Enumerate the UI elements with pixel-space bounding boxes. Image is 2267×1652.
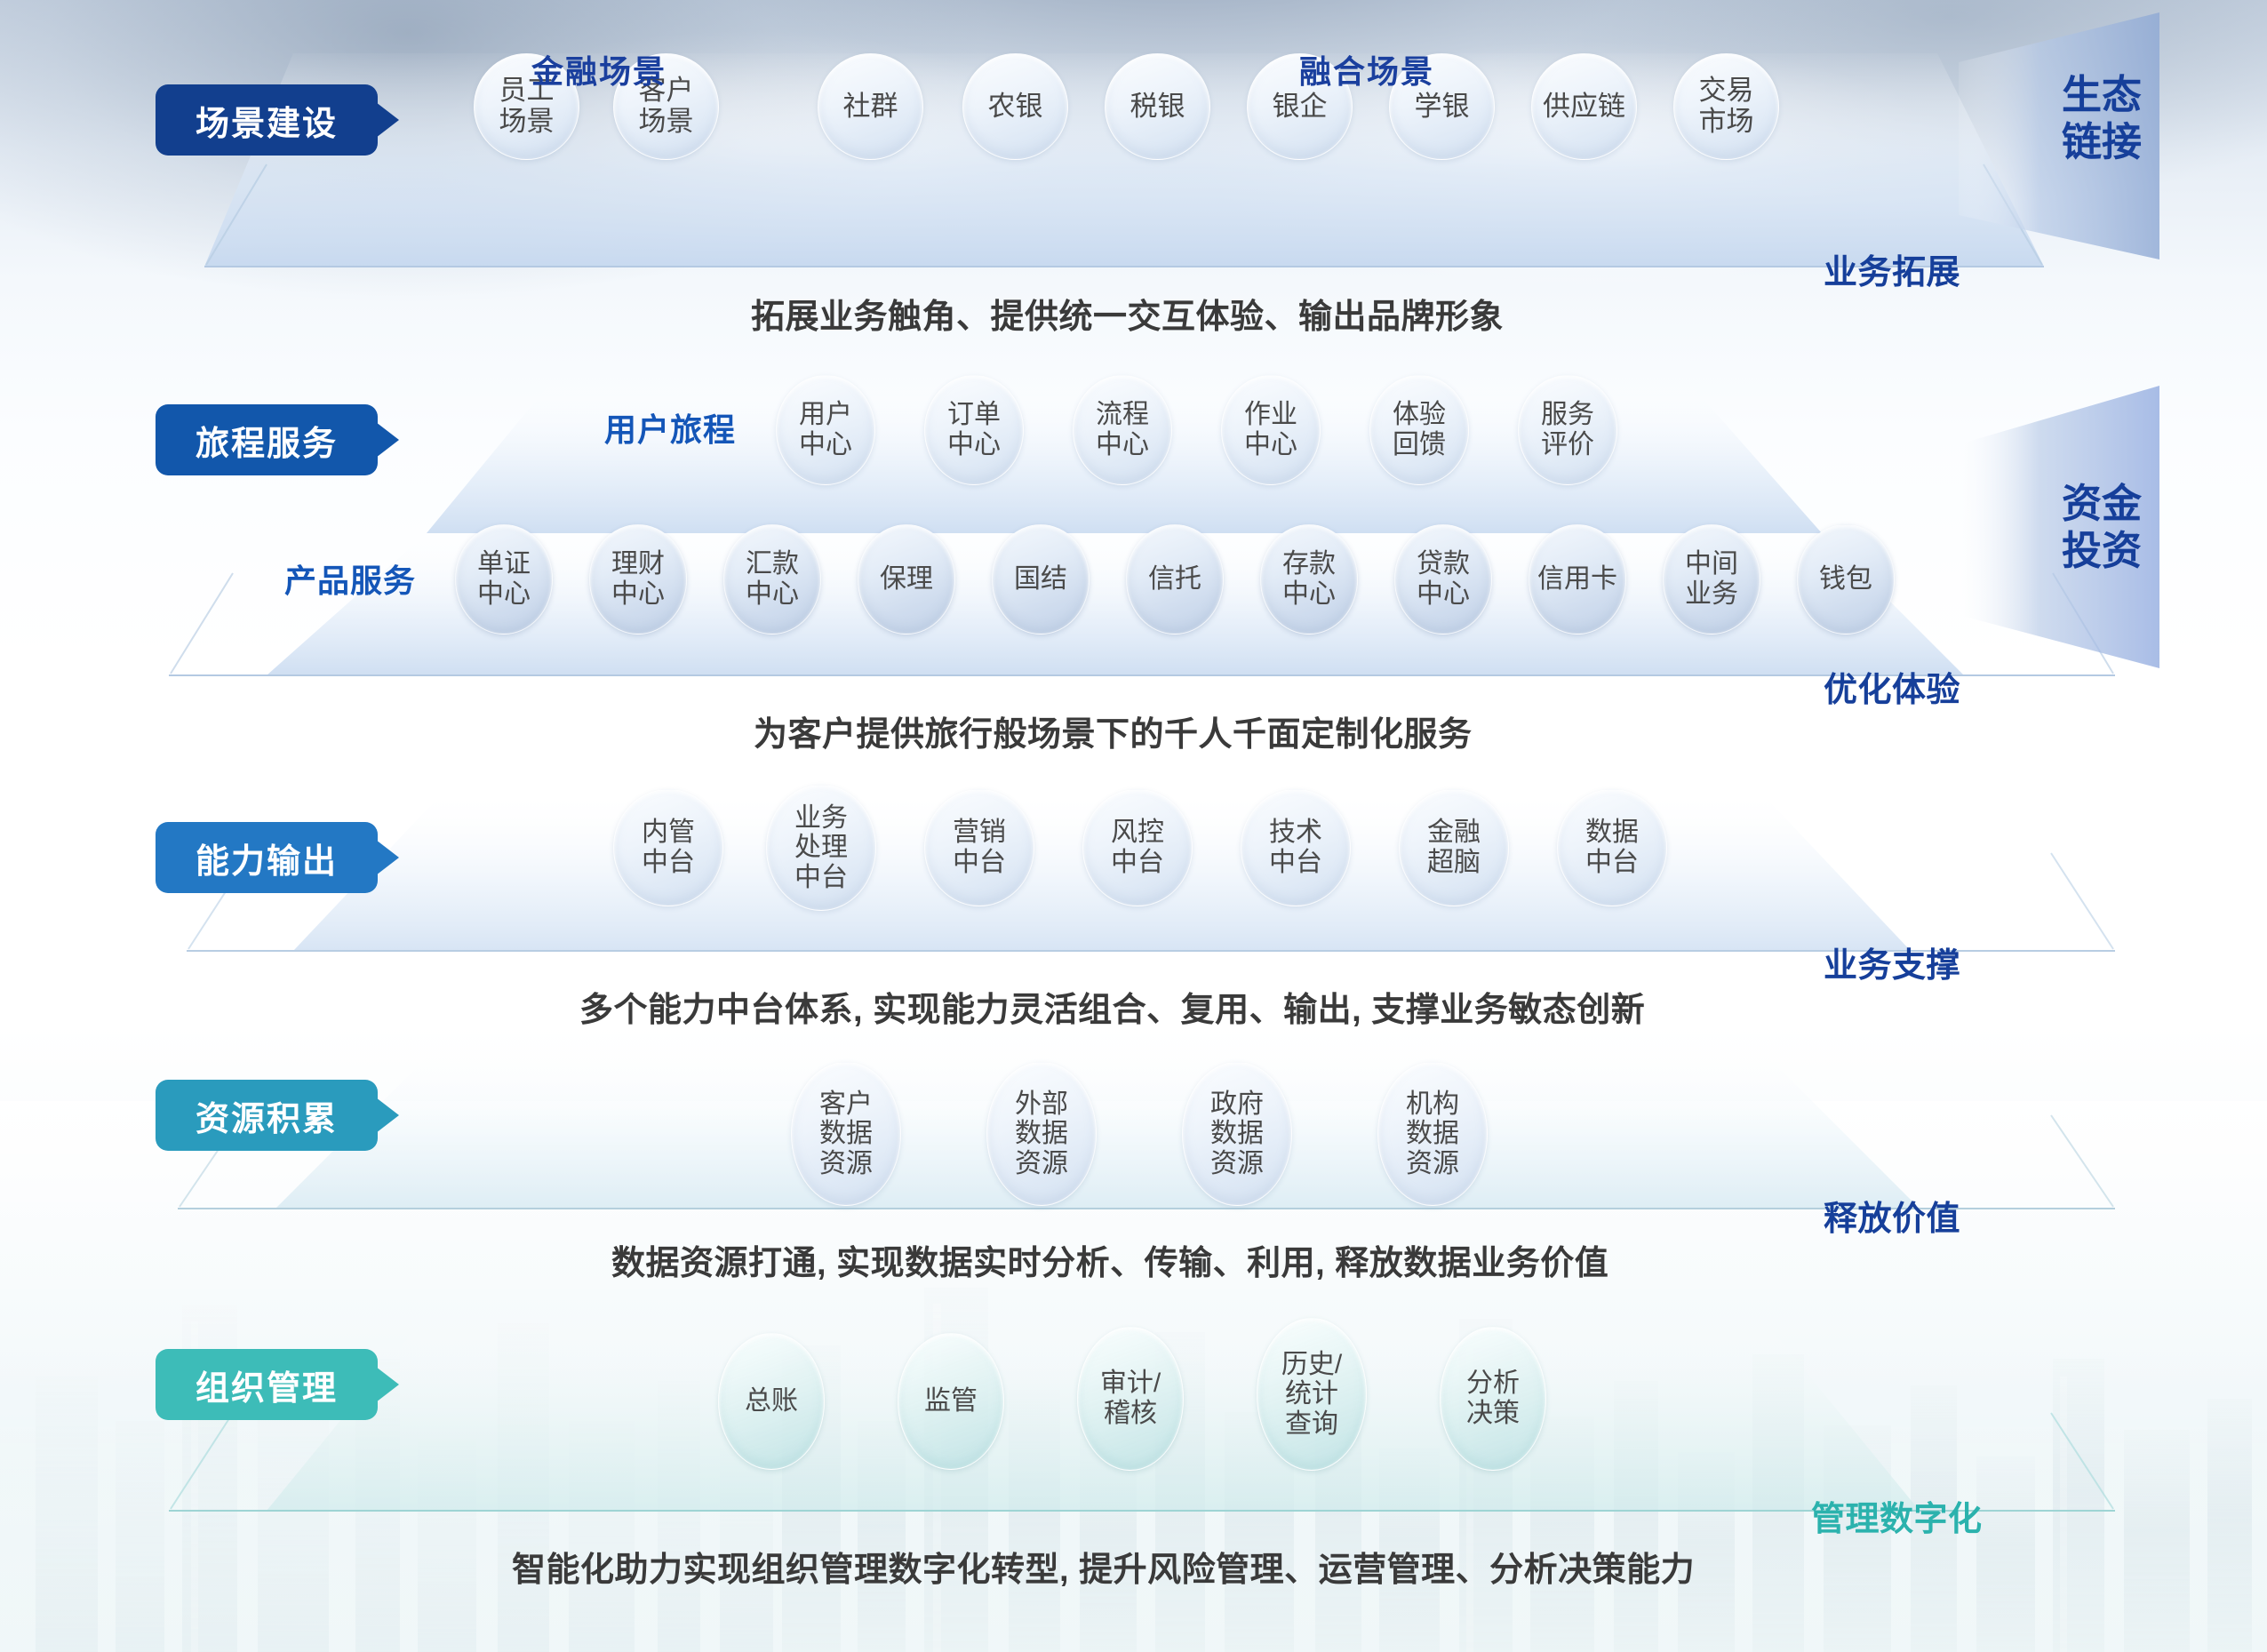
row-label-user-journey: 用户旅程 [604, 404, 736, 451]
node-journey-service-rating[interactable]: 服务评价 [1518, 375, 1617, 485]
ribbon-line-2: 投资 [2062, 528, 2142, 573]
layer-tag-org-label: 组织管理 [196, 1361, 338, 1409]
node-org-supervision[interactable]: 监管 [898, 1333, 1004, 1470]
group-head-financial-scene: 金融场景 [531, 46, 667, 92]
node-ability-technology[interactable]: 技术中台 [1241, 789, 1351, 906]
node-ability-finance-brain[interactable]: 金融超脑 [1399, 789, 1509, 906]
node-product-factoring[interactable]: 保理 [858, 524, 955, 634]
node-resource-customer-data[interactable]: 客户数据资源 [791, 1062, 901, 1206]
node-org-analysis-decision[interactable]: 分析决策 [1440, 1327, 1546, 1471]
layer-tag-journey[interactable]: 旅程服务 [156, 404, 378, 475]
node-journey-task-center[interactable]: 作业中心 [1221, 375, 1321, 485]
node-product-loan-center[interactable]: 贷款中心 [1394, 524, 1492, 634]
layer-tag-org[interactable]: 组织管理 [156, 1349, 378, 1420]
ribbon-line-2: 链接 [2062, 119, 2142, 164]
node-product-remittance-center[interactable]: 汇款中心 [723, 524, 821, 634]
node-ability-marketing[interactable]: 营销中台 [924, 789, 1034, 906]
node-product-intl-settlement[interactable]: 国结 [992, 524, 1090, 634]
node-org-general-ledger[interactable]: 总账 [718, 1333, 825, 1470]
node-resource-government-data[interactable]: 政府数据资源 [1182, 1062, 1292, 1206]
ribbon-fund-invest-text: 资金 投资 [2035, 480, 2168, 574]
layer-tag-ability-label: 能力输出 [196, 834, 338, 882]
group-head-fusion-scene: 融合场景 [1299, 46, 1434, 92]
node-product-trust[interactable]: 信托 [1126, 524, 1224, 634]
node-journey-process-center[interactable]: 流程中心 [1073, 375, 1172, 485]
node-ability-business-process[interactable]: 业务处理中台 [766, 785, 876, 911]
node-product-intermediary-business[interactable]: 中间业务 [1663, 524, 1760, 634]
layer-right-label-ability: 业务支撑 [1824, 938, 1960, 986]
layer-right-label-scene: 业务拓展 [1824, 244, 1960, 293]
node-journey-user-center[interactable]: 用户中心 [776, 375, 875, 485]
ribbon-eco-link-text: 生态 链接 [2035, 71, 2168, 165]
node-scene-community[interactable]: 社群 [818, 53, 923, 160]
ribbon-line-1: 生态 [2062, 72, 2142, 117]
node-resource-external-data[interactable]: 外部数据资源 [986, 1062, 1097, 1206]
layer-tag-resource-label: 资源积累 [196, 1091, 338, 1140]
layer-desc-resource: 数据资源打通, 实现数据实时分析、传输、利用, 释放数据业务价值 [611, 1235, 1608, 1284]
layer-right-label-resource: 释放价值 [1824, 1191, 1960, 1240]
node-org-audit-inspection[interactable]: 审计/稽核 [1077, 1327, 1184, 1471]
layer-desc-org: 智能化助力实现组织管理数字化转型, 提升风险管理、运营管理、分析决策能力 [512, 1542, 1695, 1591]
tag-pointer-icon [376, 102, 399, 138]
layer-desc-scene: 拓展业务触角、提供统一交互体验、输出品牌形象 [751, 289, 1504, 338]
node-scene-supply-chain[interactable]: 供应链 [1531, 53, 1637, 160]
ribbon-line-1: 资金 [2062, 481, 2142, 526]
node-scene-trading-market[interactable]: 交易市场 [1673, 53, 1779, 160]
layer-tag-journey-label: 旅程服务 [196, 416, 338, 465]
node-product-wallet[interactable]: 钱包 [1797, 524, 1895, 634]
layer-tag-scene[interactable]: 场景建设 [156, 84, 378, 156]
tag-pointer-icon [376, 840, 399, 875]
node-product-wealth-center[interactable]: 理财中心 [589, 524, 687, 634]
node-product-credit-card[interactable]: 信用卡 [1529, 524, 1626, 634]
node-journey-experience-feedback[interactable]: 体验回馈 [1369, 375, 1469, 485]
tag-pointer-icon [376, 1097, 399, 1133]
layer-desc-ability: 多个能力中台体系, 实现能力灵活组合、复用、输出, 支撑业务敏态创新 [579, 982, 1645, 1031]
layer-tag-resource[interactable]: 资源积累 [156, 1080, 378, 1151]
node-ability-data-platform[interactable]: 数据中台 [1557, 789, 1667, 906]
node-scene-agri-bank[interactable]: 农银 [962, 53, 1068, 160]
layer-tag-scene-label: 场景建设 [196, 96, 338, 145]
node-product-documentary-center[interactable]: 单证中心 [455, 524, 553, 634]
row-label-product-service: 产品服务 [284, 555, 416, 602]
node-org-history-statistics-query[interactable]: 历史/统计查询 [1257, 1318, 1367, 1471]
layer-right-label-journey: 优化体验 [1824, 662, 1960, 711]
node-scene-tax-bank[interactable]: 税银 [1105, 53, 1210, 160]
node-journey-order-center[interactable]: 订单中心 [924, 375, 1024, 485]
layer-right-label-org: 管理数字化 [1811, 1491, 1983, 1540]
layer-tag-ability[interactable]: 能力输出 [156, 822, 378, 893]
node-resource-institution-data[interactable]: 机构数据资源 [1377, 1062, 1488, 1206]
node-ability-internal-mgmt[interactable]: 内管中台 [613, 789, 723, 906]
node-ability-risk-control[interactable]: 风控中台 [1082, 789, 1193, 906]
tag-pointer-icon [376, 1367, 399, 1402]
node-product-deposit-center[interactable]: 存款中心 [1260, 524, 1358, 634]
tag-pointer-icon [376, 422, 399, 458]
layer-desc-journey: 为客户提供旅行般场景下的千人千面定制化服务 [754, 706, 1473, 755]
